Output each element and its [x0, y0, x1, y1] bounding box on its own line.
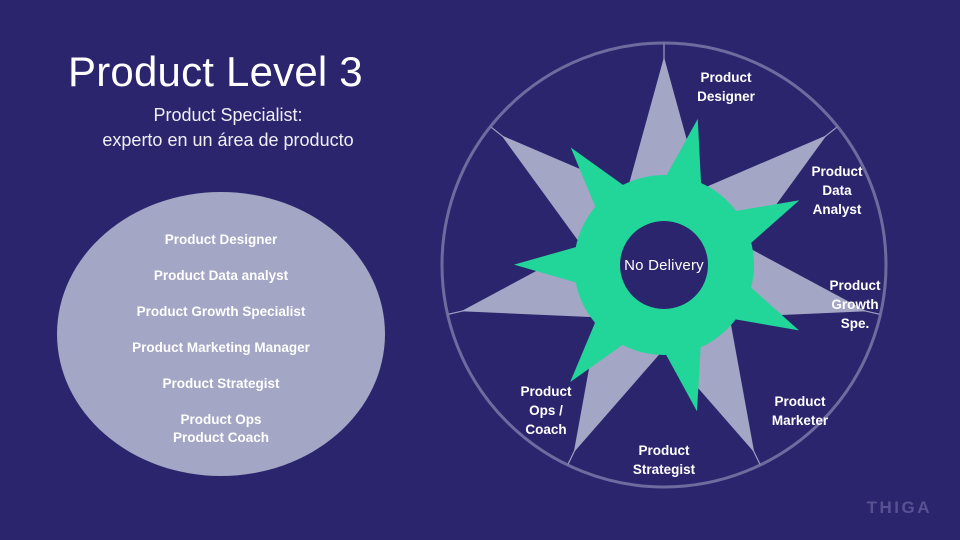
slide-root: Product Level 3 Product Specialist: expe…	[0, 0, 960, 540]
radar-label-product-designer: Product Designer	[680, 68, 772, 106]
list-item: Product Ops Product Coach	[173, 411, 269, 447]
radar-label-product-ops-coach: Product Ops / Coach	[500, 382, 592, 439]
radar-label-product-growth-spe: Product Growth Spe.	[812, 276, 898, 333]
list-item: Product Data analyst	[154, 258, 288, 294]
list-item: Product Marketing Manager	[132, 330, 310, 366]
subtitle-line-2: experto en un área de producto	[68, 128, 388, 153]
roles-list: Product Designer Product Data analyst Pr…	[57, 192, 385, 476]
list-item: Product Designer	[165, 222, 278, 258]
center-hole	[620, 221, 708, 309]
radar-label-product-strategist: Product Strategist	[612, 441, 716, 479]
radar-label-product-data-analyst: Product Data Analyst	[794, 162, 880, 219]
page-title: Product Level 3	[68, 48, 363, 96]
list-item: Product Strategist	[162, 366, 279, 402]
thiga-logo: THIGA	[867, 498, 932, 518]
page-subtitle: Product Specialist: experto en un área d…	[68, 103, 388, 153]
radar-label-product-marketer: Product Marketer	[750, 392, 850, 430]
list-item: Product Growth Specialist	[137, 294, 306, 330]
subtitle-line-1: Product Specialist:	[68, 103, 388, 128]
